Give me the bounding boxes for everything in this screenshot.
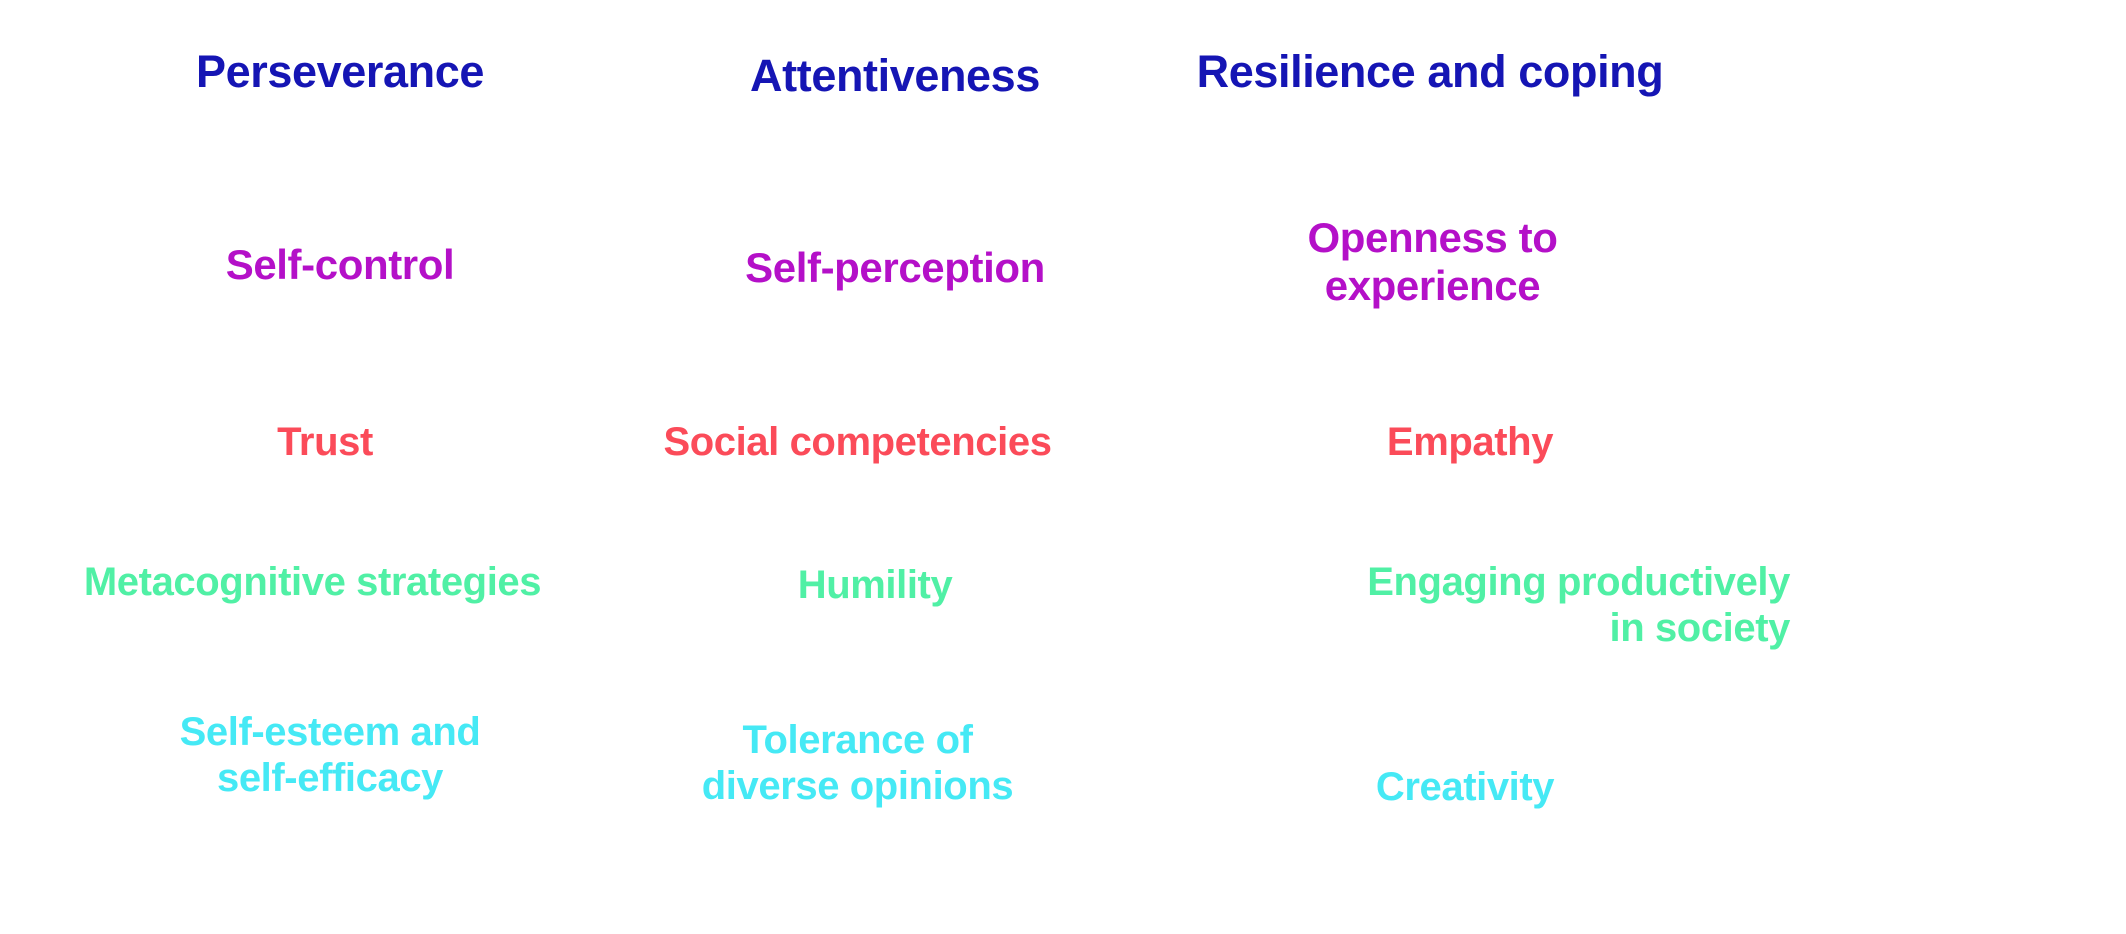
column-header-resilience-and-coping: Resilience and coping <box>1115 46 1745 97</box>
column-header-attentiveness: Attentiveness <box>595 50 1195 101</box>
grid-item-self-esteem-and-self-efficacy: Self-esteem and self-efficacy <box>30 710 630 801</box>
grid-item-social-competencies: Social competencies <box>545 420 1170 466</box>
grid-item-tolerance-of-diverse-opinions: Tolerance of diverse opinions <box>545 718 1170 809</box>
grid-item-self-perception: Self-perception <box>595 244 1195 292</box>
grid-item-self-control: Self-control <box>40 241 640 289</box>
grid-item-openness-to-experience: Openness to experience <box>1205 214 1660 310</box>
grid-item-metacognitive-strategies: Metacognitive strategies <box>0 560 630 606</box>
column-header-perseverance: Perseverance <box>40 46 640 97</box>
grid-item-empathy: Empathy <box>1160 420 1780 466</box>
grid-item-creativity: Creativity <box>1165 765 1765 811</box>
grid-item-engaging-productively-in-society: Engaging productively in society <box>1095 560 1810 651</box>
grid-item-trust: Trust <box>40 420 610 466</box>
grid-item-humility: Humility <box>570 563 1180 609</box>
concept-grid-canvas: Perseverance Attentiveness Resilience an… <box>0 0 2126 934</box>
